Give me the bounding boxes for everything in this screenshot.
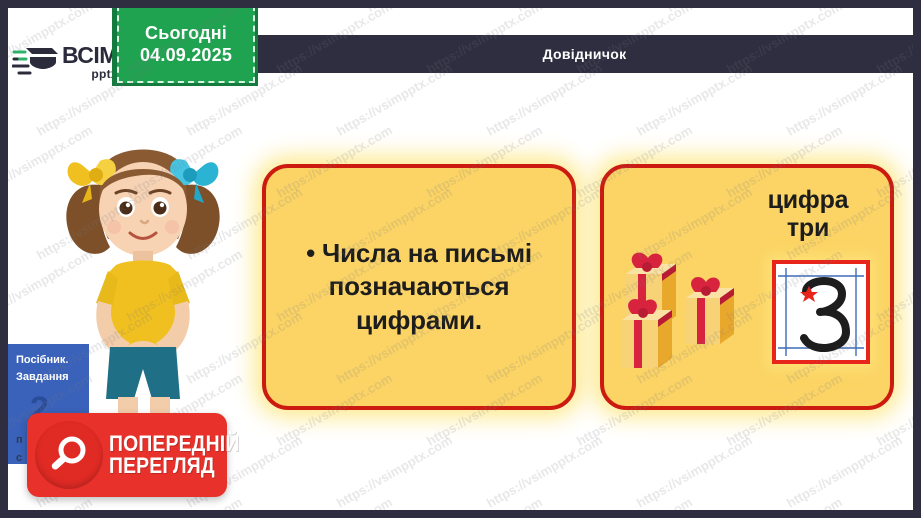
digit-name-line1: цифра bbox=[740, 186, 876, 214]
digit-tracing-card bbox=[772, 260, 870, 364]
preview-line-2: ПЕРЕГЛЯД bbox=[109, 455, 239, 477]
watermark-text: https://vsimpptx.com bbox=[274, 494, 395, 510]
watermark-text: https://vsimpptx.com bbox=[784, 432, 905, 510]
watermark-text: https://vsimpptx.com bbox=[8, 8, 35, 15]
title-banner: Довідничок bbox=[256, 35, 913, 73]
magnifier-icon bbox=[35, 421, 103, 489]
rule-box: • Числа на письмі позначаються цифрами. bbox=[262, 164, 576, 410]
gift-boxes-illustration bbox=[618, 244, 768, 374]
watermark-text: https://vsimpptx.com bbox=[514, 8, 635, 15]
watermark-text: https://vsimpptx.com bbox=[334, 432, 455, 510]
page-title: Довідничок bbox=[543, 46, 627, 62]
rule-text: • Числа на письмі позначаються цифрами. bbox=[266, 168, 572, 406]
logo-title: ВСІМ bbox=[62, 44, 118, 67]
watermark-text: https://vsimpptx.com bbox=[634, 432, 755, 510]
gift-box-2 bbox=[686, 277, 734, 344]
watermark-text: https://vsimpptx.com bbox=[364, 8, 485, 15]
date-badge: Сьогодні 04.09.2025 bbox=[117, 8, 255, 83]
graduation-cap-icon bbox=[12, 42, 58, 82]
watermark-text: https://vsimpptx.com bbox=[484, 432, 605, 510]
watermark-text: https://vsimpptx.com bbox=[664, 8, 785, 15]
date-badge-value: 04.09.2025 bbox=[140, 45, 232, 66]
date-badge-container: Сьогодні 04.09.2025 bbox=[112, 8, 255, 83]
date-badge-label: Сьогодні bbox=[145, 23, 227, 44]
watermark-text: https://vsimpptx.com bbox=[574, 494, 695, 510]
watermark-text: https://vsimpptx.com bbox=[874, 494, 913, 510]
assignment-label-line1: Посібник. bbox=[16, 352, 83, 369]
digit-name-line2: три bbox=[740, 214, 876, 242]
logo-wordmark: ВСІМ pptx bbox=[62, 44, 118, 80]
slide-frame: ВСІМ pptx Сьогодні 04.09.2025 Довідничок bbox=[8, 8, 913, 510]
logo-subtitle: pptx bbox=[62, 68, 118, 80]
example-box: цифра три bbox=[600, 164, 894, 410]
watermark-text: https://vsimpptx.com bbox=[424, 494, 545, 510]
watermark-text: https://vsimpptx.com bbox=[814, 8, 913, 15]
watermark-text: https://vsimpptx.com bbox=[724, 494, 845, 510]
brand-logo: ВСІМ pptx bbox=[12, 36, 124, 88]
preview-badge: ПОПЕРЕДНІЙ ПЕРЕГЛЯД bbox=[27, 413, 227, 497]
digit-name-label: цифра три bbox=[740, 186, 876, 242]
preview-line-1: ПОПЕРЕДНІЙ bbox=[109, 433, 239, 455]
assignment-label-line2: Завдання bbox=[16, 369, 83, 386]
preview-badge-text: ПОПЕРЕДНІЙ ПЕРЕГЛЯД bbox=[109, 433, 257, 478]
